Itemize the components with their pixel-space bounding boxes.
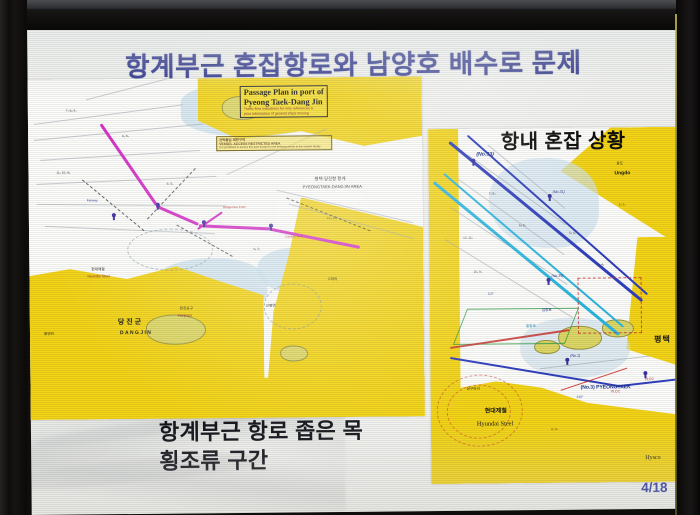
place-label-hyundai-en: Hyundai Steel [87, 274, 109, 278]
place-label-godae: 고대리 [327, 277, 337, 281]
buoy-label-no39: (No.39) [551, 274, 563, 278]
screen-frame-top-sheen [0, 0, 700, 9]
caption-line-1: 항계부근 항로 좁은 목 [159, 417, 363, 448]
area-label-kr: 평택·당진항 항계 [315, 177, 346, 182]
slide-title: 항계부근 혼잡항로와 남양호 배수로 문제 [27, 40, 679, 85]
land-southwest [28, 376, 424, 420]
area-label-en: PYEONGTAEK-DANGJIN AREA [303, 185, 362, 190]
presentation-slide: 항계부근 혼잡항로와 남양호 배수로 문제 항내 혼잡 상황 [27, 14, 684, 515]
buoy-marker [472, 161, 474, 166]
screen-frame-top [0, 0, 700, 30]
anchorage-area [577, 277, 642, 334]
place-label-hanjinpo-kr: 한진포구 [180, 306, 193, 310]
passage-plan-chart[interactable]: Passage Plan in port of Pyeong Taek-Dang… [27, 76, 425, 420]
screen-frame-rim-light [675, 14, 677, 515]
place-label-yongyeon: 용연리 [44, 332, 54, 336]
village-label-seonggu: 성구리리 [467, 387, 480, 391]
chart-title-note2: prior information of general ships movin… [244, 111, 324, 116]
caption-line-2: 횡조류 구간 [159, 445, 363, 476]
place-label-dangjin-kr: 당진군 [118, 319, 143, 327]
page-number: 4/18 [641, 480, 667, 495]
place-label-hanjinpo-en: Hanjinpo [178, 313, 192, 317]
restricted-note: It is prohibited to access this area exc… [219, 145, 329, 149]
island-small [146, 314, 206, 345]
island-small [280, 345, 308, 361]
port-congestion-chart[interactable]: (No.33) (No.31) (No.39) (No.1) (No.3) PY… [428, 127, 683, 484]
place-label-hyundai-kr: 현대제철 [91, 267, 104, 271]
buoy-marker [548, 280, 550, 285]
island-label-ungdo: Ungdo [614, 171, 630, 177]
route-label-outbound: 출항로 [526, 324, 536, 328]
green-restricted-area [453, 308, 579, 345]
restricted-area-box: 선박출입 제한구역 VESSEL ACCESS RESTRICTED AREA … [216, 135, 332, 151]
berth-label-vlcc: VLCC [644, 377, 654, 381]
facility-label-hyundai-kr: 현대제철 [485, 408, 507, 415]
buoy-label-no1: (No.1) [570, 354, 580, 358]
buoy-label-no31: (No.31) [553, 190, 565, 194]
screen-frame-right [676, 0, 700, 515]
island-label-ungdo-kr: 웅도 [616, 161, 623, 165]
screen-frame-left-inner [0, 0, 10, 515]
section-subheading: 항내 혼잡 상황 [448, 124, 678, 155]
place-label-sinpyeong: 신평면 [266, 304, 276, 308]
region-label-pyeongtaek-kr: 평택 [654, 335, 671, 344]
buoy-marker [549, 196, 551, 201]
facility-label-hyundai-en: Hyundai Steel [477, 420, 513, 428]
chart-title-box: Passage Plan in port of Pyeong Taek-Dang… [240, 85, 328, 118]
route-label-inbound: 입항로 [542, 308, 552, 312]
berth-label-vlcc: VLCC [611, 389, 621, 393]
slide-caption: 항계부근 항로 좁은 목 횡조류 구간 [159, 417, 364, 476]
chart-title-line1: Passage Plan in port of [244, 87, 324, 97]
place-label-dangjin-en: DANGJIN [120, 331, 152, 337]
projected-slide-photo: 항계부근 혼잡항로와 남양호 배수로 문제 항내 혼잡 상황 [0, 0, 700, 515]
buoy-label-no3-pyeongtaek: (No.3) PYEONGTAEK [581, 385, 631, 391]
buoy-marker [566, 360, 568, 365]
facility-label-hysco: Hysco [645, 455, 660, 462]
